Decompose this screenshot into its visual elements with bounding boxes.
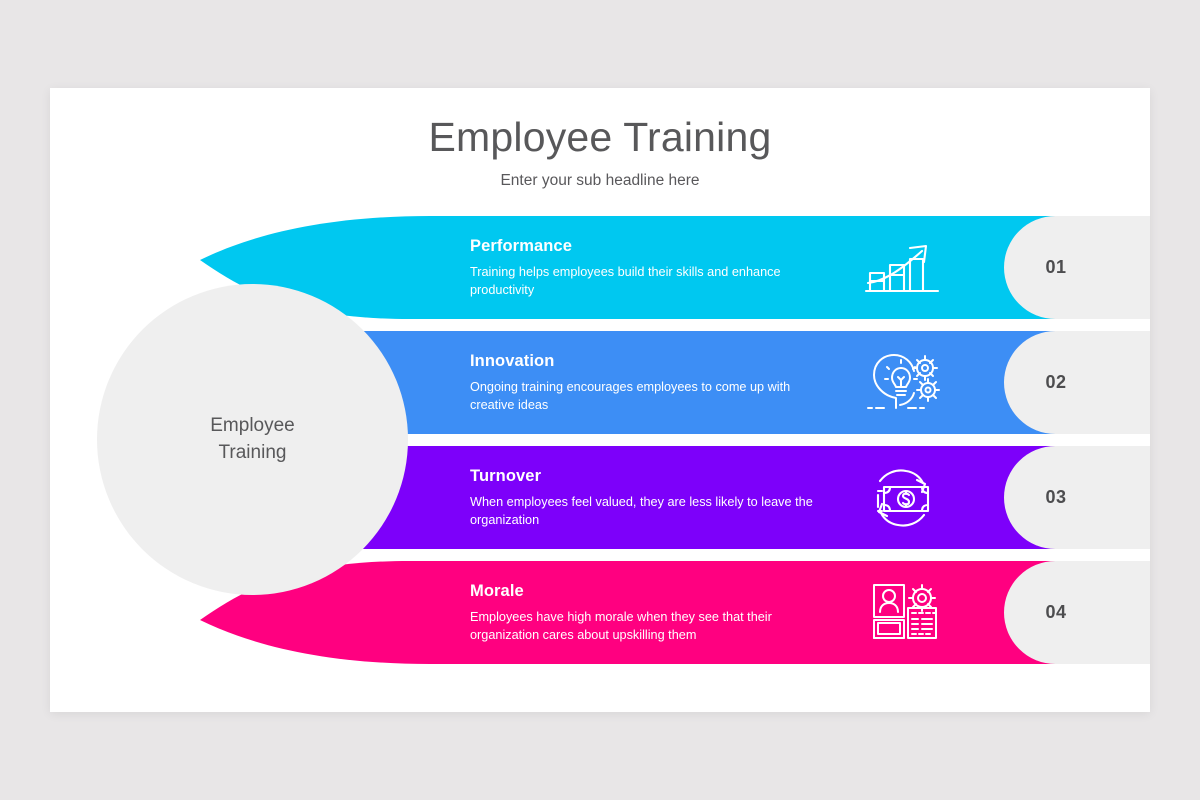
row-description-4: Employees have high morale when they see… bbox=[470, 608, 830, 644]
row-text-4: Morale Employees have high morale when t… bbox=[470, 581, 830, 643]
row-badge-3[interactable]: 03 bbox=[1004, 446, 1150, 549]
growth-chart-icon bbox=[860, 237, 944, 299]
row-heading-4: Morale bbox=[470, 581, 830, 599]
row-badge-2[interactable]: 02 bbox=[1004, 331, 1150, 434]
row-heading-2: Innovation bbox=[470, 351, 830, 369]
row-number-3: 03 bbox=[1045, 487, 1066, 508]
row-heading-1: Performance bbox=[470, 236, 830, 254]
page-title: Employee Training bbox=[50, 88, 1150, 160]
row-number-2: 02 bbox=[1045, 372, 1066, 393]
row-badge-1[interactable]: 01 bbox=[1004, 216, 1150, 319]
slide-header: Employee Training Enter your sub headlin… bbox=[50, 88, 1150, 190]
center-circle[interactable]: Employee Training bbox=[97, 284, 408, 595]
row-heading-3: Turnover bbox=[470, 466, 830, 484]
row-number-4: 04 bbox=[1045, 602, 1066, 623]
head-lightbulb-gears-icon bbox=[860, 352, 944, 414]
center-circle-label: Employee Training bbox=[210, 413, 295, 465]
slide-canvas: Employee Training Enter your sub headlin… bbox=[50, 88, 1150, 712]
row-text-2: Innovation Ongoing training encourages e… bbox=[470, 351, 830, 413]
row-badge-4[interactable]: 04 bbox=[1004, 561, 1150, 664]
row-description-2: Ongoing training encourages employees to… bbox=[470, 378, 830, 414]
employee-profile-card-icon bbox=[860, 582, 944, 644]
row-text-1: Performance Training helps employees bui… bbox=[470, 236, 830, 298]
row-description-3: When employees feel valued, they are les… bbox=[470, 493, 830, 529]
row-text-3: Turnover When employees feel valued, the… bbox=[470, 466, 830, 528]
money-cycle-icon bbox=[860, 467, 944, 529]
row-number-1: 01 bbox=[1045, 257, 1066, 278]
row-description-1: Training helps employees build their ski… bbox=[470, 263, 830, 299]
page-subtitle: Enter your sub headline here bbox=[50, 160, 1150, 190]
